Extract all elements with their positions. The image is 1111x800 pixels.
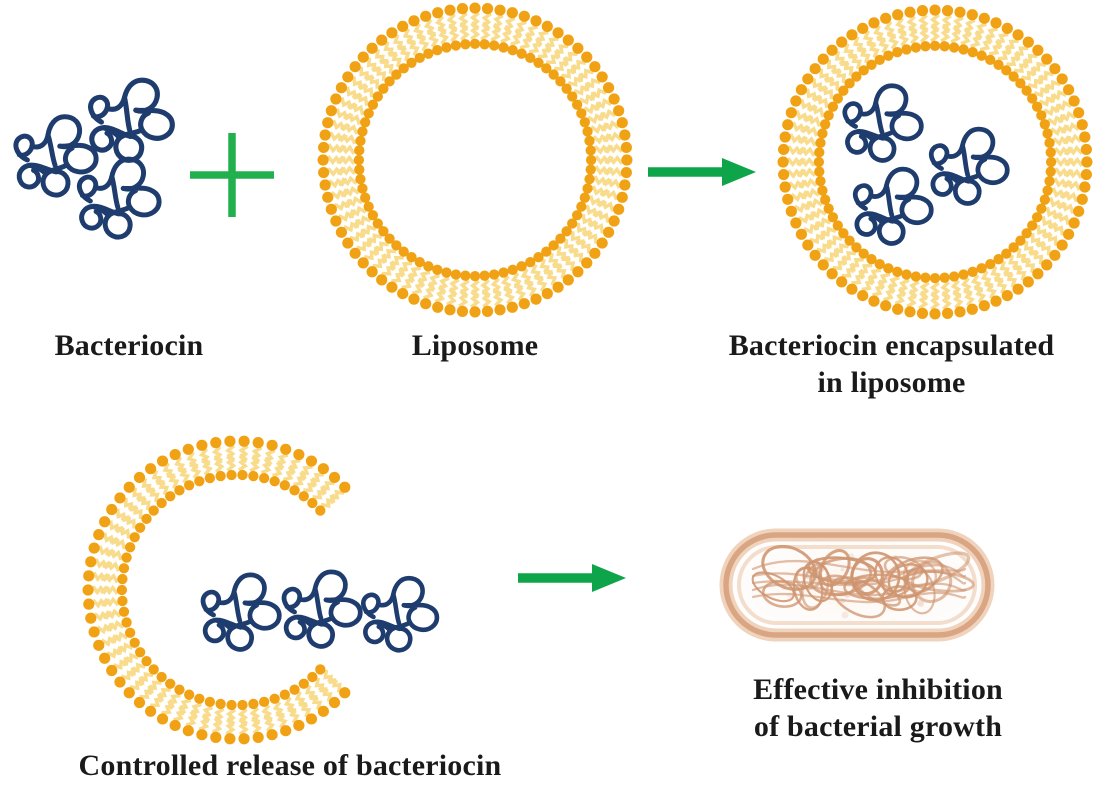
- label-controlled-release: Controlled release of bacteriocin: [10, 748, 570, 785]
- label-bacteriocin-encapsulated: Bacteriocin encapsulatedin liposome: [672, 328, 1111, 401]
- label-line-2: of bacterial growth: [754, 710, 1002, 743]
- label-bacteriocin: Bacteriocin: [0, 328, 258, 365]
- rod-bacterium: [726, 535, 988, 635]
- label-liposome: Liposome: [330, 328, 620, 365]
- label-effective-inhibition: Effective inhibitionof bacterial growth: [688, 672, 1068, 745]
- label-line-1: Bacteriocin encapsulated: [729, 329, 1055, 362]
- label-line-2: in liposome: [817, 366, 965, 399]
- label-line-1: Effective inhibition: [753, 673, 1003, 706]
